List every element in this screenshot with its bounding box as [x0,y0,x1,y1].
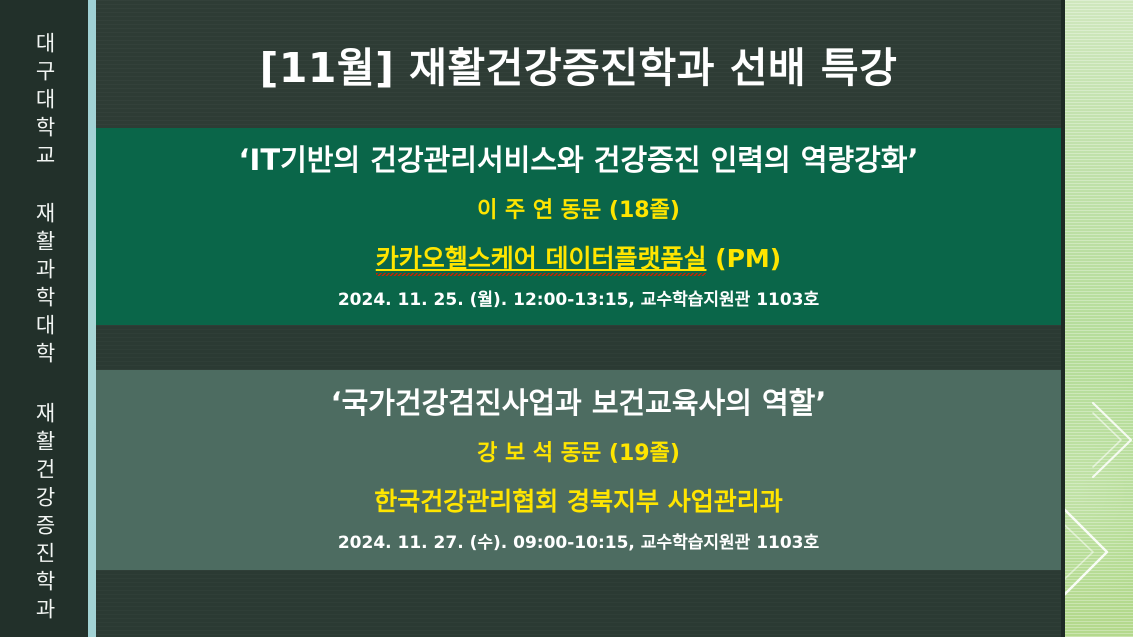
texture-gap-two [96,570,1061,637]
strip-separator-line [1061,0,1065,637]
session-2-datetime-venue: 2024. 11. 27. (수). 09:00-10:15, 교수학습지원관 … [338,533,819,553]
sidebar-department-name: 재활건강증진학과 [34,402,55,626]
session-1-affiliation-suffix: (PM) [706,244,781,273]
chevron-arrow-icon [1065,0,1133,637]
sidebar-university-name: 대구대학교 [34,32,55,172]
session-panel-1: ‘IT기반의 건강관리서비스와 건강증진 인력의 역량강화’ 이 주 연 동문 … [96,128,1061,325]
main-content-column: [11월] 재활건강증진학과 선배 특강 ‘IT기반의 건강관리서비스와 건강증… [96,0,1061,637]
session-1-affiliation-spellchecked: 카카오헬스케어 데이터플랫폼실 [376,244,707,276]
session-1-speaker: 이 주 연 동문 (18졸) [477,198,680,224]
title-band: [11월] 재활건강증진학과 선배 특강 [96,0,1061,128]
texture-gap-one [96,325,1061,370]
session-2-affiliation: 한국건강관리협회 경북지부 사업관리과 [374,487,782,517]
session-1-affiliation: 카카오헬스케어 데이터플랫폼실 (PM) [376,244,781,274]
decorative-green-strip [1065,0,1133,637]
sidebar-college-name: 재활과학대학 [34,202,55,370]
lecture-poster: 대구대학교 재활과학대학 재활건강증진학과 [11월] 재활건강증진학과 선배 … [0,0,1133,637]
vertical-sidebar: 대구대학교 재활과학대학 재활건강증진학과 [0,0,88,637]
session-2-topic: ‘국가건강검진사업과 보건교육사의 역할’ [331,386,827,421]
session-1-topic: ‘IT기반의 건강관리서비스와 건강증진 인력의 역량강화’ [239,143,919,178]
page-title: [11월] 재활건강증진학과 선배 특강 [260,34,898,94]
session-2-speaker: 강 보 석 동문 (19졸) [477,441,680,467]
session-panel-2: ‘국가건강검진사업과 보건교육사의 역할’ 강 보 석 동문 (19졸) 한국건… [96,370,1061,570]
session-1-datetime-venue: 2024. 11. 25. (월). 12:00-13:15, 교수학습지원관 … [338,290,819,310]
sidebar-accent-line [88,0,96,637]
sidebar-text-stack: 대구대학교 재활과학대학 재활건강증진학과 [0,0,88,637]
